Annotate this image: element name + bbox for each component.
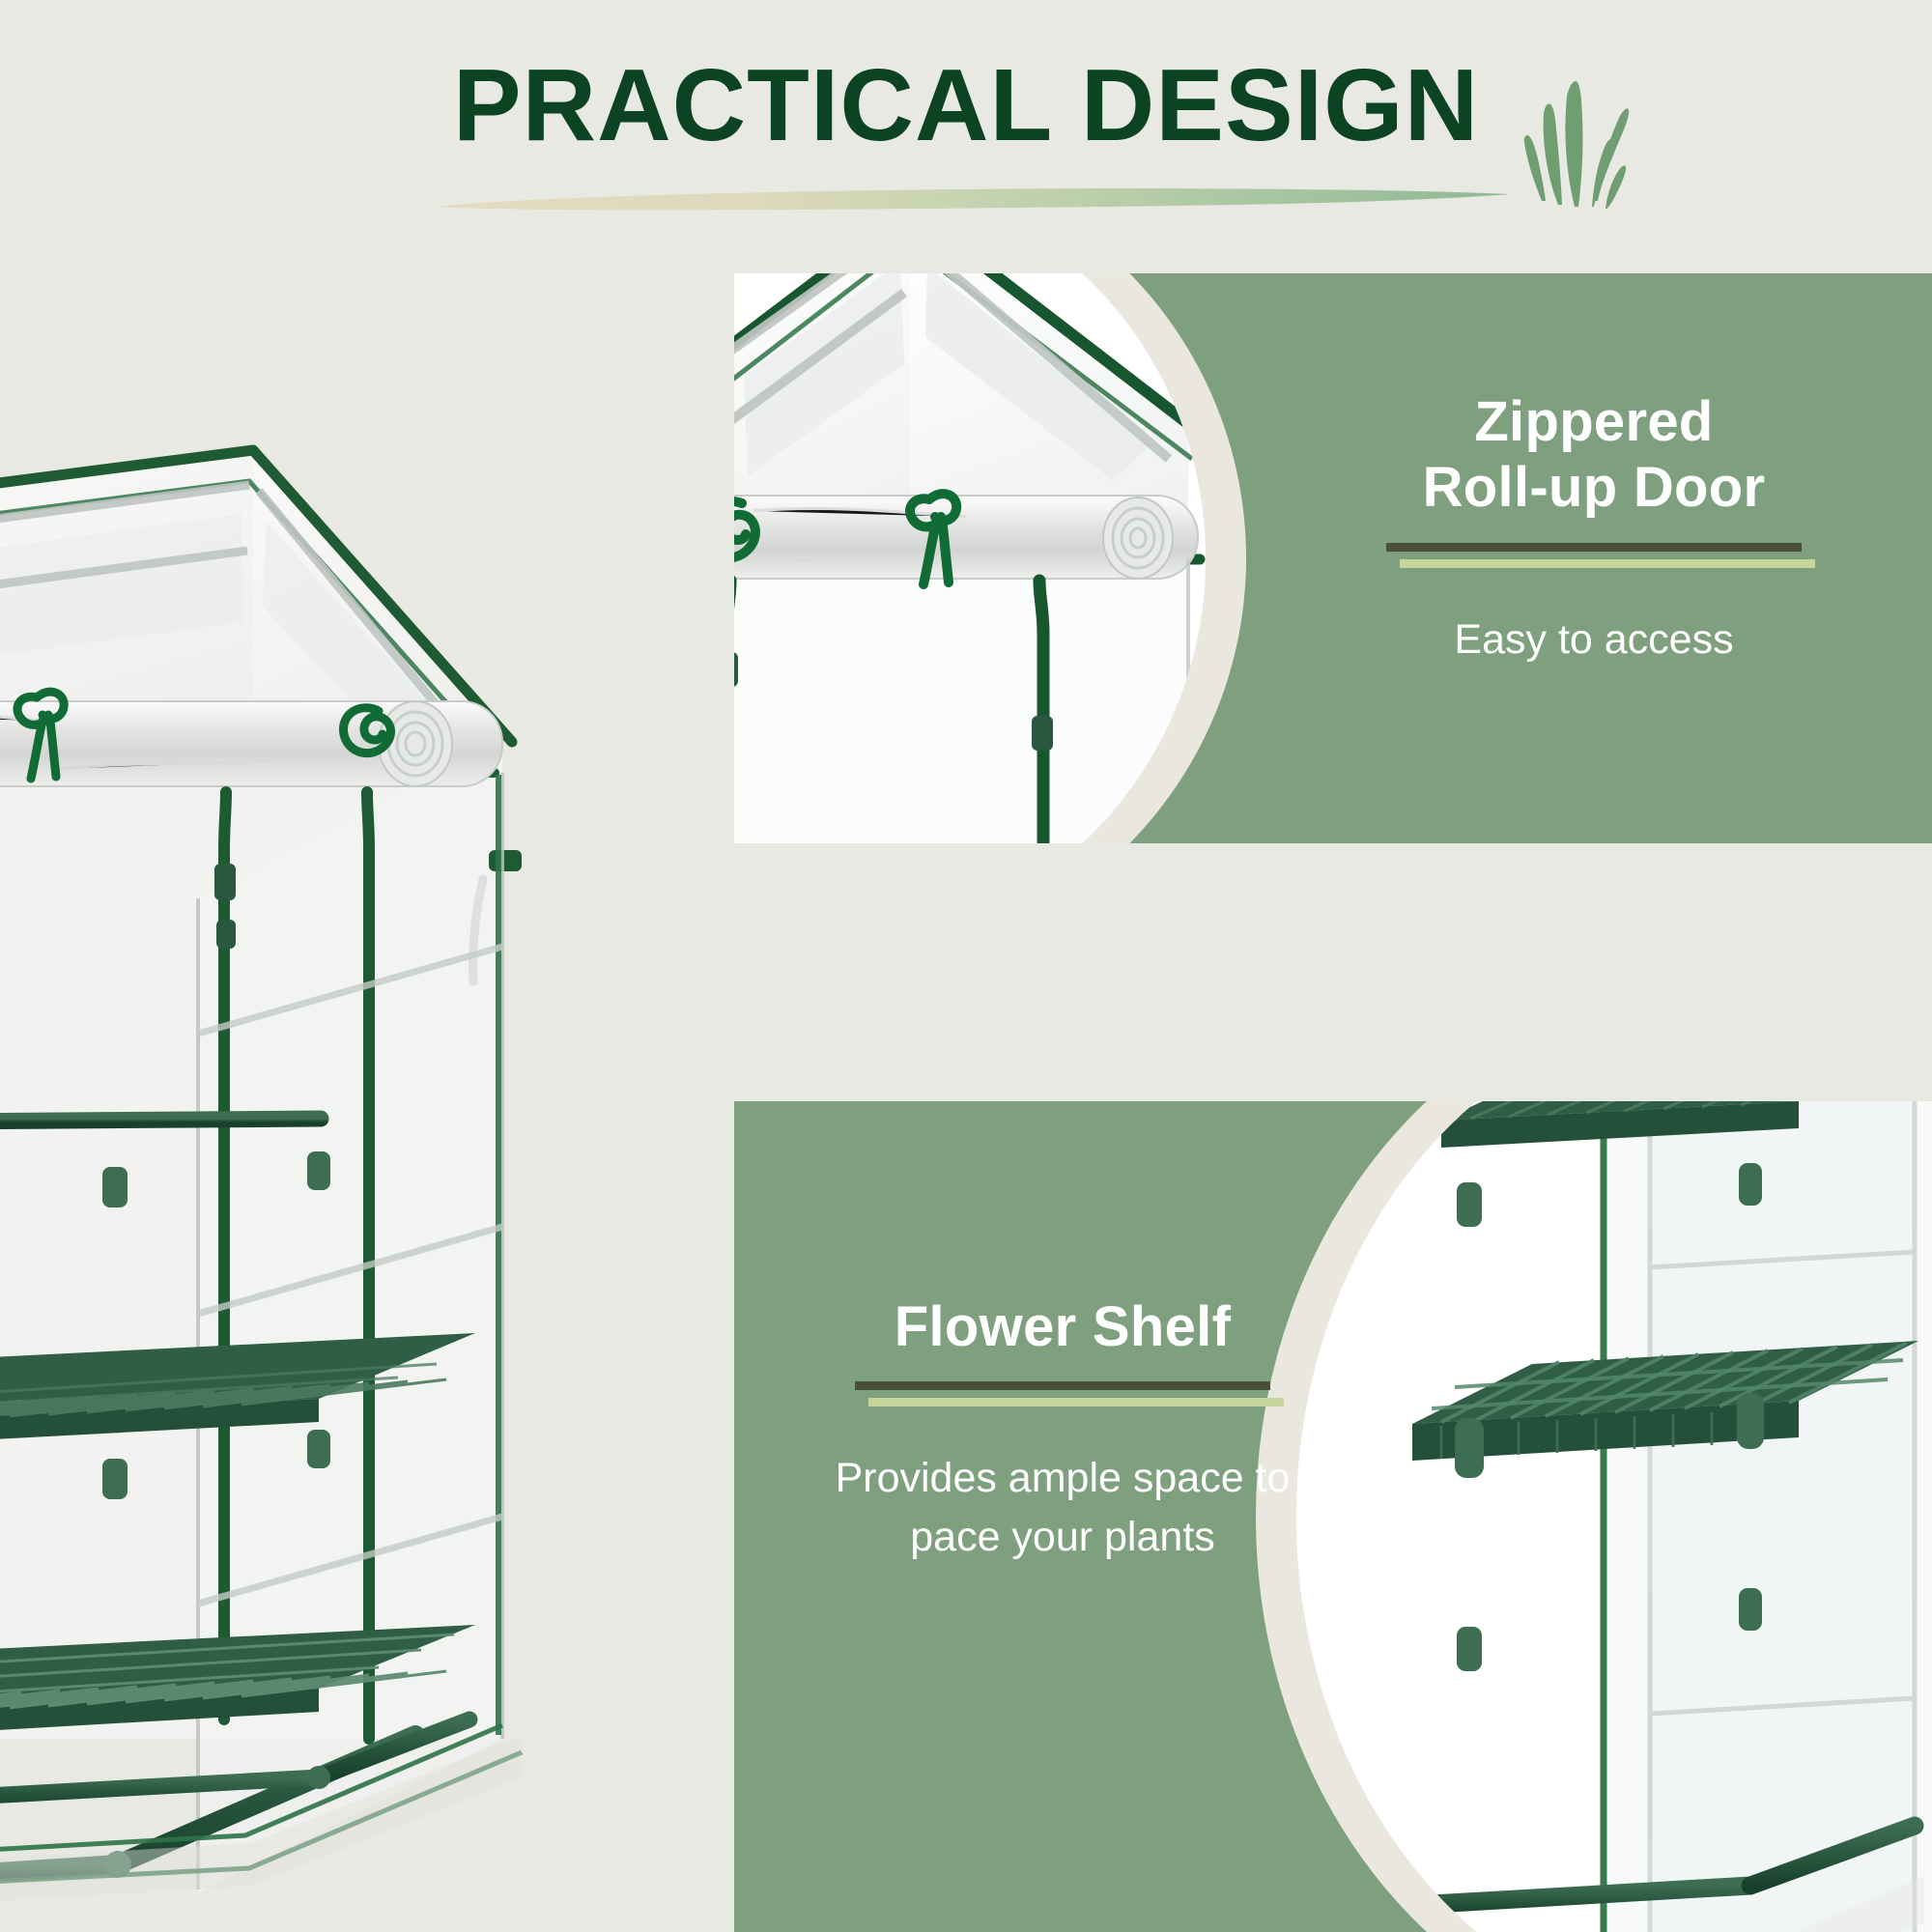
panel-text-zippered-door: Zippered Roll-up Door Easy to access: [1275, 389, 1913, 669]
panel-divider: [855, 1381, 1270, 1406]
header: PRACTICAL DESIGN: [0, 0, 1932, 253]
divider-dark-line: [855, 1381, 1270, 1390]
hero-product-image: [0, 232, 734, 1932]
flower-shelf-closeup: [1296, 1101, 1932, 1932]
feature-panel-zippered-roll-up-door: Zippered Roll-up Door Easy to access: [734, 273, 1932, 843]
title-divider: [430, 184, 1512, 218]
panel-text-flower-shelf: Flower Shelf Provides ample space to pac…: [753, 1294, 1372, 1568]
panel-subtext-line1: Provides ample space to: [836, 1455, 1291, 1501]
feature-panel-flower-shelf: Flower Shelf Provides ample space to pac…: [734, 1101, 1932, 1932]
panel-divider: [1386, 543, 1802, 568]
panel-heading-line2: Roll-up Door: [1275, 455, 1913, 521]
divider-dark-line: [1386, 543, 1802, 552]
feature-photo-zippered-door: [734, 273, 1206, 843]
panel-heading: Flower Shelf: [753, 1294, 1372, 1360]
divider-light-line: [1400, 559, 1815, 568]
panel-heading: Zippered Roll-up Door: [1275, 389, 1913, 522]
infographic-root: PRACTICAL DESIGN: [0, 0, 1932, 1932]
divider-light-line: [868, 1398, 1284, 1406]
greenhouse-illustration: [0, 232, 734, 1932]
zippered-door-closeup: [734, 273, 1206, 843]
panel-heading-line1: Flower Shelf: [895, 1295, 1231, 1358]
panel-subtext: Provides ample space to pace your plants: [753, 1449, 1372, 1567]
panel-heading-line1: Zippered: [1474, 390, 1713, 453]
panel-subtext-line2: pace your plants: [910, 1514, 1215, 1560]
grass-icon: [1503, 60, 1667, 214]
panel-subtext: Easy to access: [1275, 611, 1913, 669]
feature-photo-flower-shelf: [1296, 1101, 1932, 1932]
